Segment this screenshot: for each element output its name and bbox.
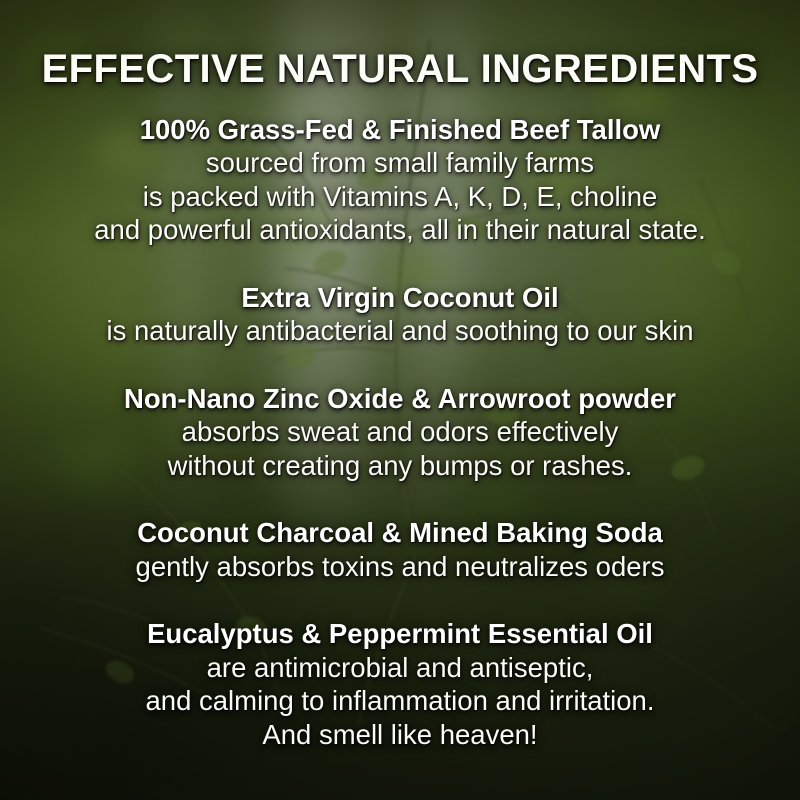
ingredient-heading: Non-Nano Zinc Oxide & Arrowroot powder — [0, 382, 800, 416]
ingredient-line: absorbs sweat and odors effectively — [0, 415, 800, 449]
ingredient-line: without creating any bumps or rashes. — [0, 449, 800, 483]
page-title: EFFECTIVE NATURAL INGREDIENTS — [42, 49, 759, 91]
ingredient-block-coconut-oil: Extra Virgin Coconut Oil is naturally an… — [0, 281, 800, 348]
ingredient-line: and powerful antioxidants, all in their … — [0, 213, 800, 247]
ingredient-line: are antimicrobial and antiseptic, — [0, 651, 800, 685]
ingredient-list: 100% Grass-Fed & Finished Beef Tallow so… — [0, 113, 800, 752]
ingredient-line: is naturally antibacterial and soothing … — [0, 314, 800, 348]
ingredient-heading: Eucalyptus & Peppermint Essential Oil — [0, 617, 800, 651]
ingredient-block-essential-oils: Eucalyptus & Peppermint Essential Oil ar… — [0, 617, 800, 751]
ingredient-block-zinc-arrowroot: Non-Nano Zinc Oxide & Arrowroot powder a… — [0, 382, 800, 483]
ingredient-line: sourced from small family farms — [0, 146, 800, 180]
ingredient-line: gently absorbs toxins and neutralizes od… — [0, 550, 800, 584]
ingredient-line: And smell like heaven! — [0, 718, 800, 752]
ingredient-line: is packed with Vitamins A, K, D, E, chol… — [0, 180, 800, 214]
ingredient-heading: Coconut Charcoal & Mined Baking Soda — [0, 516, 800, 550]
ingredients-poster: EFFECTIVE NATURAL INGREDIENTS 100% Grass… — [0, 0, 800, 800]
ingredient-heading: Extra Virgin Coconut Oil — [0, 281, 800, 315]
poster-content: EFFECTIVE NATURAL INGREDIENTS 100% Grass… — [0, 0, 800, 800]
ingredient-heading: 100% Grass-Fed & Finished Beef Tallow — [0, 113, 800, 147]
ingredient-line: and calming to inflammation and irritati… — [0, 684, 800, 718]
ingredient-block-charcoal-baking-soda: Coconut Charcoal & Mined Baking Soda gen… — [0, 516, 800, 583]
ingredient-block-beef-tallow: 100% Grass-Fed & Finished Beef Tallow so… — [0, 113, 800, 247]
